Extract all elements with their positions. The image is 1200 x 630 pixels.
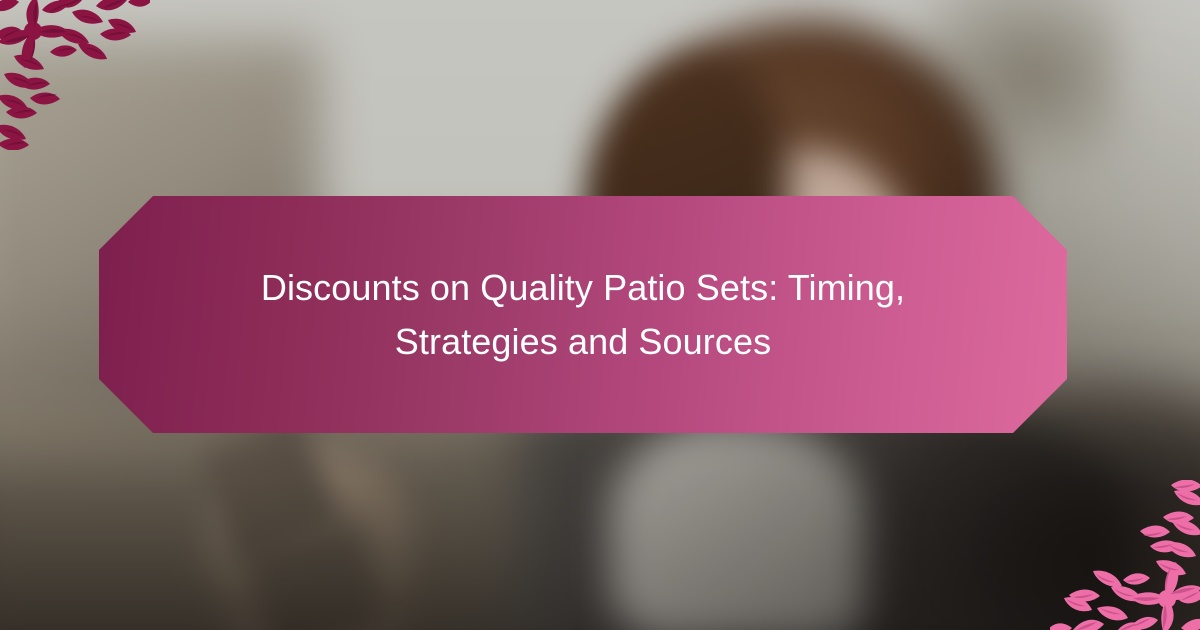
floral-corner-ornament-top-left (0, 0, 150, 150)
floral-corner-ornament-bottom-right (1050, 480, 1200, 630)
share-card: Discounts on Quality Patio Sets: Timing,… (0, 0, 1200, 630)
title-banner: Discounts on Quality Patio Sets: Timing,… (99, 196, 1067, 433)
page-title: Discounts on Quality Patio Sets: Timing,… (133, 261, 1033, 368)
